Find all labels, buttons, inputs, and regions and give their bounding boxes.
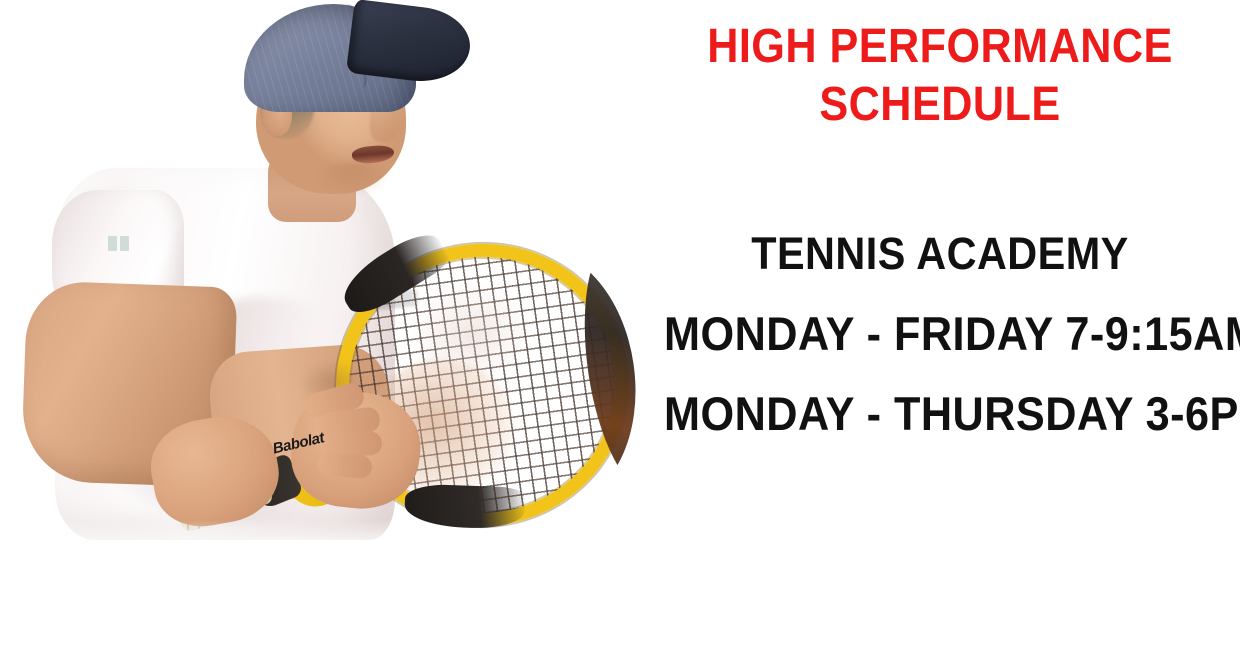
photo-stage: Babolat bbox=[0, 0, 640, 653]
photo-bottom-fade bbox=[40, 520, 410, 560]
racket-rim-bottom bbox=[404, 484, 525, 530]
player-finger bbox=[317, 452, 373, 480]
player-chin-shadow bbox=[316, 162, 390, 196]
sleeve-brand-logo bbox=[108, 236, 132, 251]
schedule-line-2: MONDAY - THURSDAY 3-6PM bbox=[664, 374, 1216, 454]
player-photo: Babolat bbox=[0, 0, 640, 653]
poster-root: Babolat HIGH PERFORMANCE SCHEDULE TENNIS… bbox=[0, 0, 1240, 653]
headline-line-1: HIGH PERFORMANCE bbox=[670, 18, 1210, 76]
headline-line-2: SCHEDULE bbox=[670, 76, 1210, 134]
poster-headline: HIGH PERFORMANCE SCHEDULE bbox=[670, 18, 1210, 134]
schedule-details: TENNIS ACADEMY MONDAY - FRIDAY 7-9:15AM … bbox=[640, 214, 1240, 454]
cap-brim bbox=[346, 0, 474, 87]
schedule-line-1: MONDAY - FRIDAY 7-9:15AM bbox=[664, 294, 1216, 374]
program-name: TENNIS ACADEMY bbox=[664, 214, 1216, 294]
schedule-text-panel: HIGH PERFORMANCE SCHEDULE TENNIS ACADEMY… bbox=[640, 0, 1240, 653]
